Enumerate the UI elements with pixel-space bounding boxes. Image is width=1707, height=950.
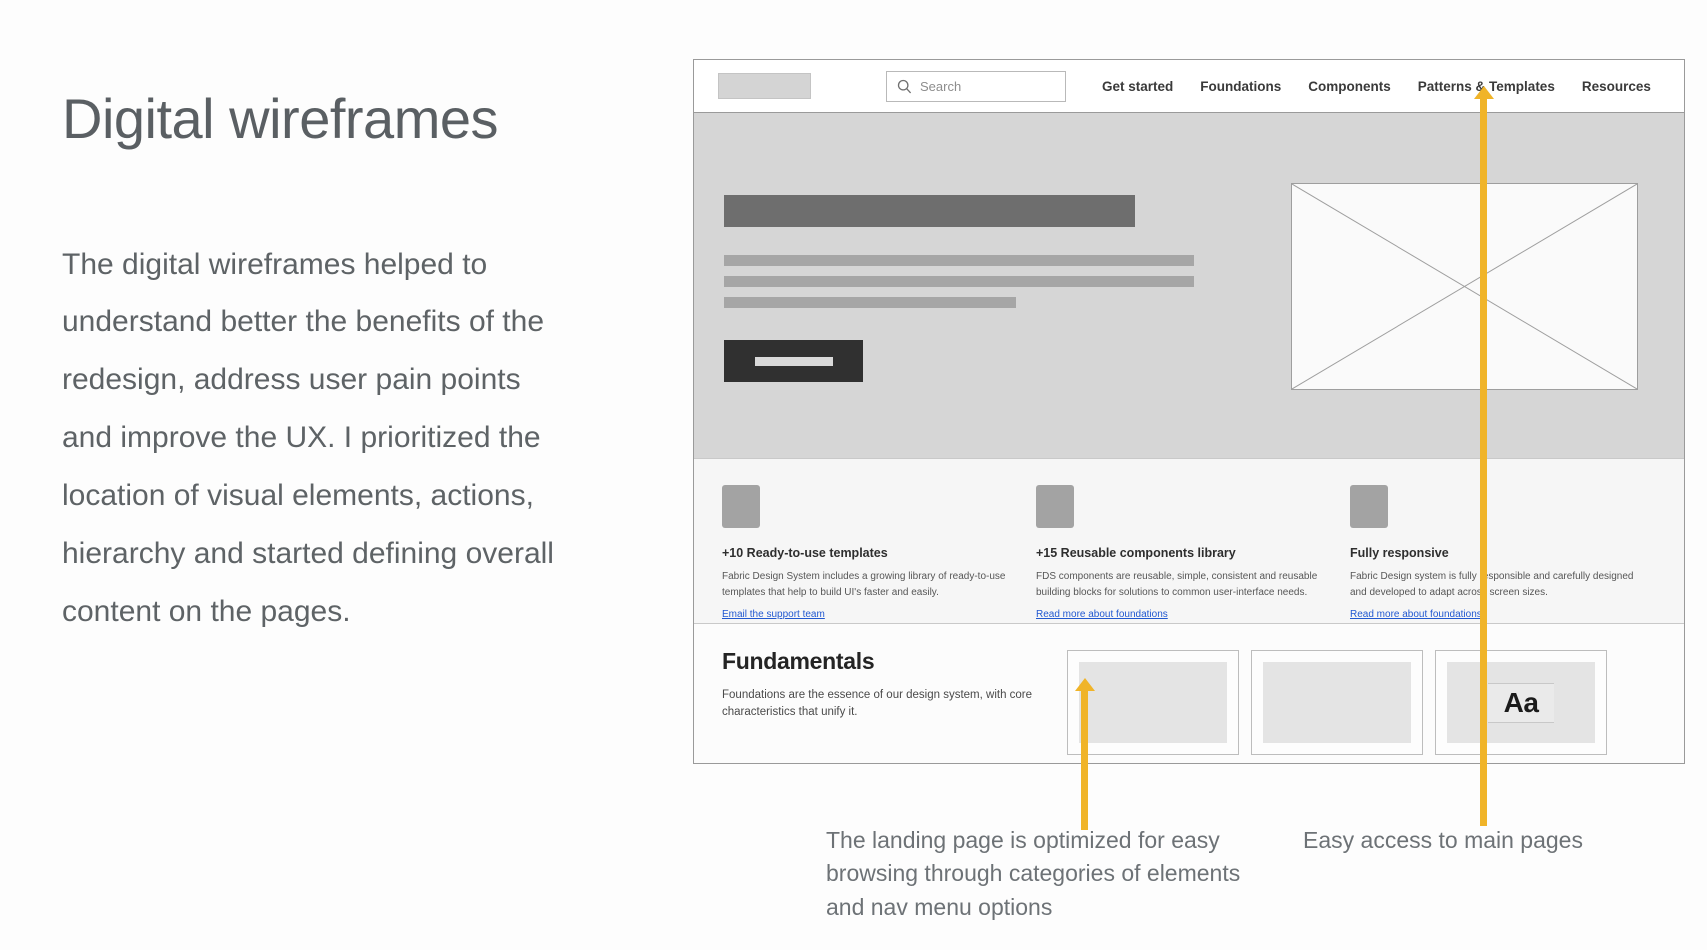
feature-description: FDS components are reusable, simple, con… (1036, 569, 1338, 600)
wireframe-browser-panel: Search Get started Foundations Component… (693, 59, 1685, 764)
fundamentals-card-list: Aa (1067, 650, 1607, 763)
hero-cta-label-placeholder (755, 357, 833, 366)
fundamentals-card[interactable] (1251, 650, 1423, 755)
annotation-nav-text: Easy access to main pages (1303, 824, 1633, 857)
feature-title: +10 Ready-to-use templates (722, 546, 1024, 560)
hero-image-placeholder (1291, 183, 1638, 390)
fundamentals-description: Foundations are the essence of our desig… (722, 687, 1052, 722)
feature-link[interactable]: Read more about foundations (1350, 609, 1482, 620)
slide-body-text: The digital wireframes helped to underst… (62, 236, 562, 641)
nav-links: Get started Foundations Components Patte… (1102, 79, 1651, 94)
fundamentals-title: Fundamentals (722, 648, 1052, 675)
hero-heading-placeholder (724, 195, 1135, 227)
nav-link-components[interactable]: Components (1308, 79, 1391, 94)
search-input[interactable]: Search (886, 71, 1066, 102)
card-image-placeholder (1079, 662, 1227, 743)
feature-icon-square (1036, 485, 1074, 528)
card-image-placeholder (1263, 662, 1411, 743)
feature-link[interactable]: Read more about foundations (1036, 609, 1168, 620)
card-image-placeholder: Aa (1447, 662, 1595, 743)
fundamentals-card-typography[interactable]: Aa (1435, 650, 1607, 755)
page-title: Digital wireframes (62, 88, 602, 150)
navbar: Search Get started Foundations Component… (694, 60, 1684, 113)
feature-link[interactable]: Email the support team (722, 609, 825, 620)
feature-card: +15 Reusable components library FDS comp… (1036, 485, 1338, 623)
hero-text-line (724, 297, 1016, 308)
search-icon (897, 79, 912, 94)
features-section: +10 Ready-to-use templates Fabric Design… (694, 458, 1684, 623)
feature-card: Fully responsive Fabric Design system is… (1350, 485, 1652, 623)
annotation-arrow-nav (1480, 98, 1487, 826)
feature-title: +15 Reusable components library (1036, 546, 1338, 560)
annotation-arrow-landing (1081, 690, 1088, 830)
logo-placeholder[interactable] (718, 73, 811, 99)
nav-link-foundations[interactable]: Foundations (1200, 79, 1281, 94)
hero-section (694, 113, 1684, 458)
nav-link-get-started[interactable]: Get started (1102, 79, 1173, 94)
annotation-landing-text: The landing page is optimized for easy b… (826, 824, 1246, 924)
hero-cta-button[interactable] (724, 340, 863, 382)
search-placeholder: Search (920, 79, 961, 94)
left-text-column: Digital wireframes The digital wireframe… (62, 88, 602, 641)
fundamentals-text: Fundamentals Foundations are the essence… (722, 648, 1052, 763)
nav-link-resources[interactable]: Resources (1582, 79, 1651, 94)
hero-text-line (724, 276, 1194, 287)
feature-icon-square (1350, 485, 1388, 528)
fundamentals-card[interactable] (1067, 650, 1239, 755)
hero-content (724, 195, 1194, 382)
feature-title: Fully responsive (1350, 546, 1652, 560)
typography-sample: Aa (1488, 683, 1555, 723)
feature-card: +10 Ready-to-use templates Fabric Design… (722, 485, 1024, 623)
fundamentals-section: Fundamentals Foundations are the essence… (694, 623, 1684, 763)
feature-description: Fabric Design System includes a growing … (722, 569, 1024, 600)
feature-description: Fabric Design system is fully responsibl… (1350, 569, 1652, 600)
feature-icon-square (722, 485, 760, 528)
slide-canvas: Digital wireframes The digital wireframe… (0, 0, 1707, 950)
hero-text-line (724, 255, 1194, 266)
